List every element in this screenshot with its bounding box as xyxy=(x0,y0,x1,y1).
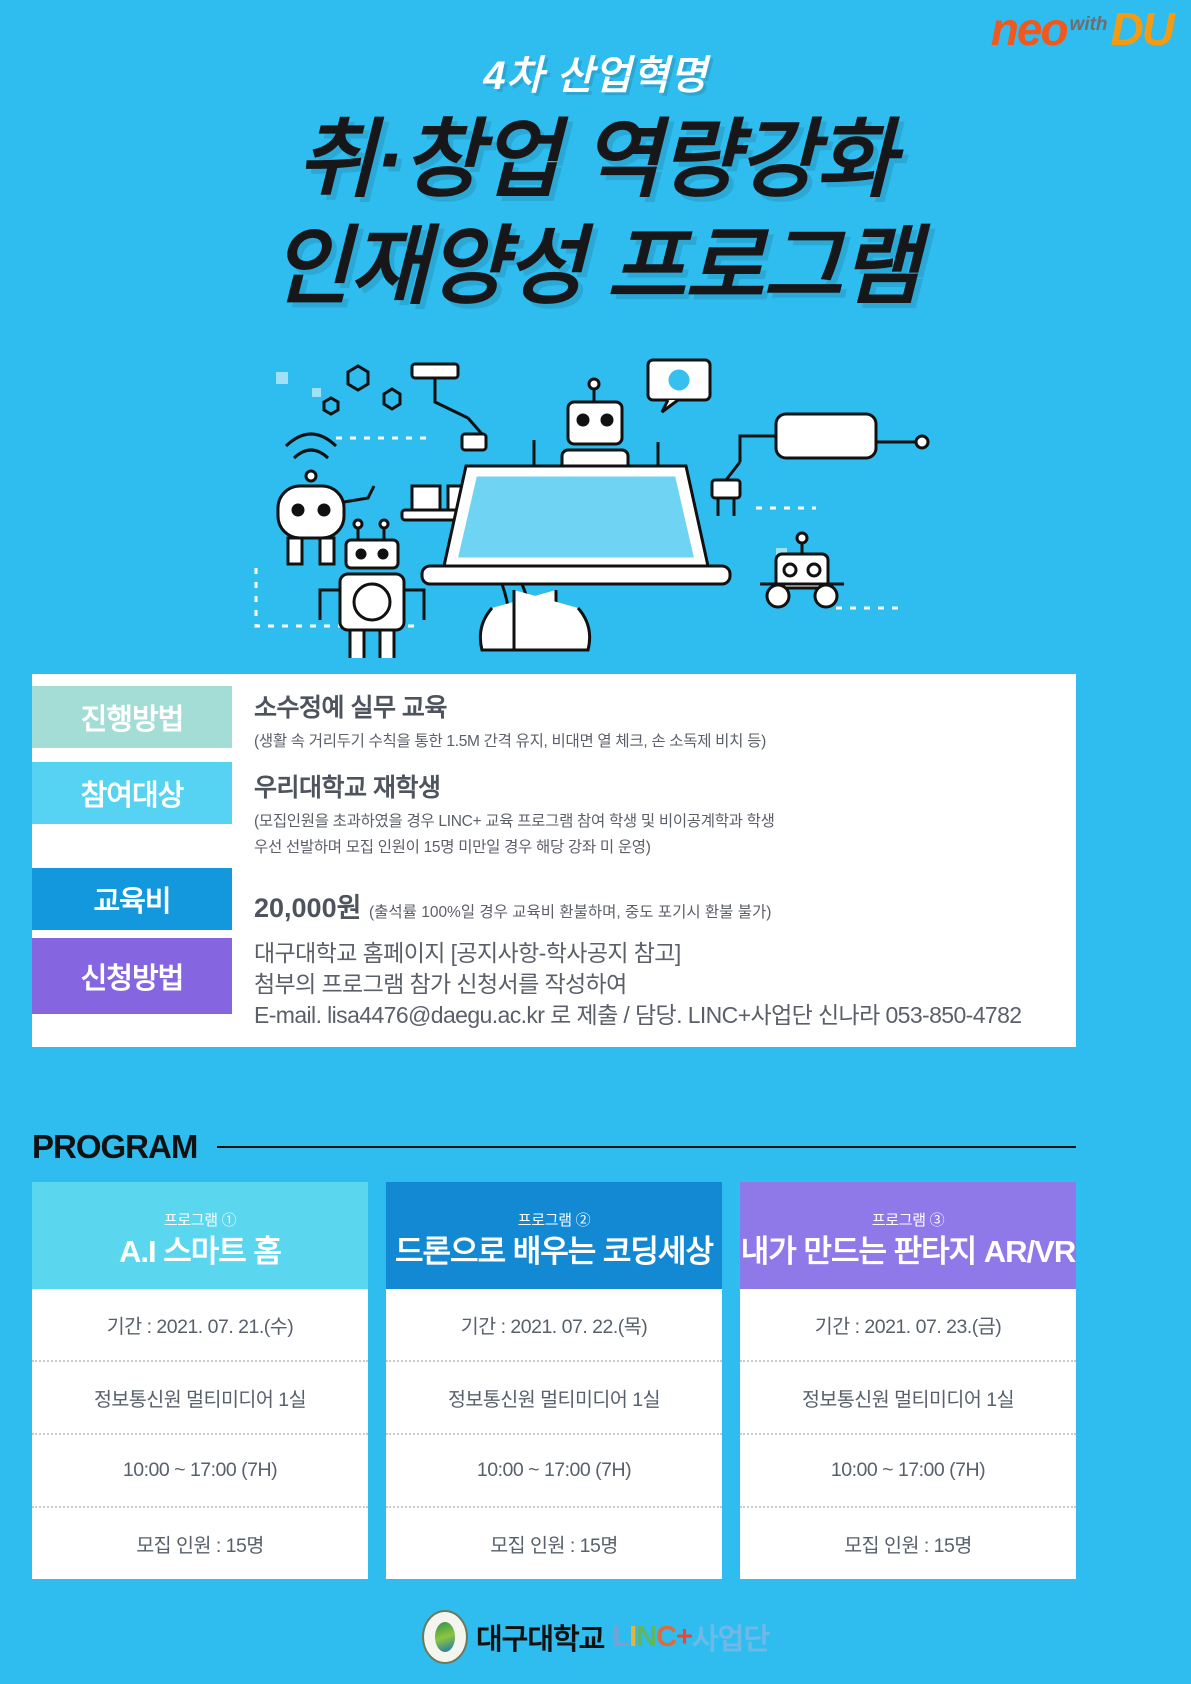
program-card-3-place: 정보통신원 멀티미디어 1실 xyxy=(740,1362,1076,1435)
linc-letter-plus: + xyxy=(676,1621,692,1654)
program-card-1-place: 정보통신원 멀티미디어 1실 xyxy=(32,1362,368,1435)
info-apply-line1: 대구대학교 홈페이지 [공지사항-학사공지 참고] xyxy=(254,938,1022,969)
info-cell-target: 우리대학교 재학생 (모집인원을 초과하였을 경우 LINC+ 교육 프로그램 … xyxy=(232,754,775,860)
program-card-3-header: 프로그램 ③ 내가 만드는 판타지 AR/VR xyxy=(740,1182,1076,1289)
info-row-fee: 교육비 20,000원 (출석률 100%일 경우 교육비 환불하며, 중도 포… xyxy=(32,860,1076,930)
linc-letter-i: I xyxy=(629,1621,636,1654)
program-card-2-capacity: 모집 인원 : 15명 xyxy=(386,1508,722,1579)
info-tag-method: 진행방법 xyxy=(32,686,232,748)
program-card-2-header: 프로그램 ② 드론으로 배우는 코딩세상 xyxy=(386,1182,722,1289)
info-cell-apply: 대구대학교 홈페이지 [공지사항-학사공지 참고] 첨부의 프로그램 참가 신청… xyxy=(232,930,1022,1031)
info-cell-method: 소수정예 실무 교육 (생활 속 거리두기 수칙을 통한 1.5M 간격 유지,… xyxy=(232,674,766,754)
program-card-2-tag: 프로그램 ② xyxy=(518,1209,591,1230)
program-card-1-time: 10:00 ~ 17:00 (7H) xyxy=(32,1435,368,1508)
headline-title-line1: 취·창업 역량강화 xyxy=(0,110,1191,211)
neo-with-du-logo: neo with DU xyxy=(991,8,1173,52)
program-section-header: PROGRAM xyxy=(32,1128,1076,1166)
program-card-3[interactable]: 프로그램 ③ 내가 만드는 판타지 AR/VR 기간 : 2021. 07. 2… xyxy=(740,1182,1076,1579)
robotics-illustration xyxy=(0,358,1191,668)
info-method-sub: (생활 속 거리두기 수칙을 통한 1.5M 간격 유지, 비대면 열 체크, … xyxy=(254,730,766,754)
info-row-target: 참여대상 우리대학교 재학생 (모집인원을 초과하였을 경우 LINC+ 교육 … xyxy=(32,754,1076,860)
program-heading-rule xyxy=(217,1146,1076,1148)
info-fee-amount: 20,000원 xyxy=(254,893,361,923)
logo-with-text: with xyxy=(1070,15,1108,34)
info-row-method: 진행방법 소수정예 실무 교육 (생활 속 거리두기 수칙을 통한 1.5M 간… xyxy=(32,674,1076,754)
linc-letter-n: N xyxy=(636,1621,656,1654)
poster-headline: 4차 산업혁명 취·창업 역량강화 인재양성 프로그램 xyxy=(0,56,1191,319)
info-fee-note: (출석률 100%일 경우 교육비 환불하며, 중도 포기시 환불 불가) xyxy=(369,904,771,921)
program-card-3-title: 내가 만드는 판타지 AR/VR xyxy=(741,1234,1075,1271)
linc-letter-c: C xyxy=(656,1621,676,1654)
info-method-main: 소수정예 실무 교육 xyxy=(254,688,766,724)
program-card-1-capacity: 모집 인원 : 15명 xyxy=(32,1508,368,1579)
program-card-3-capacity: 모집 인원 : 15명 xyxy=(740,1508,1076,1579)
headline-eyebrow: 4차 산업혁명 xyxy=(0,56,1191,96)
university-name: 대구대학교 xyxy=(476,1616,604,1658)
program-card-list: 프로그램 ① A.I 스마트 홈 기간 : 2021. 07. 21.(수) 정… xyxy=(32,1182,1076,1579)
program-card-1-period: 기간 : 2021. 07. 21.(수) xyxy=(32,1289,368,1362)
info-target-sub-line2: 우선 선발하며 모집 인원이 15명 미만일 경우 해당 강좌 미 운영) xyxy=(254,836,775,860)
program-card-1-header: 프로그램 ① A.I 스마트 홈 xyxy=(32,1182,368,1289)
info-tag-apply: 신청방법 xyxy=(32,938,232,1014)
university-seal-inner xyxy=(435,1622,455,1652)
info-target-sub-line1: (모집인원을 초과하였을 경우 LINC+ 교육 프로그램 참여 학생 및 비이… xyxy=(254,810,775,834)
program-card-1-tag: 프로그램 ① xyxy=(164,1209,237,1230)
program-card-3-time: 10:00 ~ 17:00 (7H) xyxy=(740,1435,1076,1508)
headline-title-line2: 인재양성 프로그램 xyxy=(0,217,1191,318)
info-apply-line3: E-mail. lisa4476@daegu.ac.kr 로 제출 / 담당. … xyxy=(254,1000,1022,1031)
program-card-2-place: 정보통신원 멀티미디어 1실 xyxy=(386,1362,722,1435)
linc-korean-suffix: 사업단 xyxy=(692,1616,769,1658)
program-card-3-period: 기간 : 2021. 07. 23.(금) xyxy=(740,1289,1076,1362)
program-card-1[interactable]: 프로그램 ① A.I 스마트 홈 기간 : 2021. 07. 21.(수) 정… xyxy=(32,1182,368,1579)
info-apply-line2: 첨부의 프로그램 참가 신청서를 작성하여 xyxy=(254,969,1022,1000)
info-tag-target: 참여대상 xyxy=(32,762,232,824)
footer-logos: 대구대학교 L I N C + 사업단 xyxy=(0,1610,1191,1664)
program-card-2-period: 기간 : 2021. 07. 22.(목) xyxy=(386,1289,722,1362)
info-fee-amount-wrap: 20,000원 (출석률 100%일 경우 교육비 환불하며, 중도 포기시 환… xyxy=(254,886,771,925)
program-card-2-time: 10:00 ~ 17:00 (7H) xyxy=(386,1435,722,1508)
program-heading-label: PROGRAM xyxy=(32,1128,197,1166)
logo-du-text: DU xyxy=(1111,8,1173,52)
info-target-main: 우리대학교 재학생 xyxy=(254,768,775,804)
linc-letter-l: L xyxy=(612,1621,629,1654)
info-panel: 진행방법 소수정예 실무 교육 (생활 속 거리두기 수칙을 통한 1.5M 간… xyxy=(32,674,1076,1047)
poster-root: neo with DU 4차 산업혁명 취·창업 역량강화 인재양성 프로그램 xyxy=(0,0,1191,1684)
program-card-3-tag: 프로그램 ③ xyxy=(872,1209,945,1230)
logo-neo-text: neo xyxy=(991,8,1067,52)
university-seal-icon xyxy=(422,1610,468,1664)
info-cell-fee: 20,000원 (출석률 100%일 경우 교육비 환불하며, 중도 포기시 환… xyxy=(232,860,771,925)
program-card-2[interactable]: 프로그램 ② 드론으로 배우는 코딩세상 기간 : 2021. 07. 22.(… xyxy=(386,1182,722,1579)
program-card-2-title: 드론으로 배우는 코딩세상 xyxy=(395,1234,713,1271)
info-tag-fee: 교육비 xyxy=(32,868,232,930)
linc-plus-logo: L I N C + 사업단 xyxy=(612,1616,769,1658)
program-card-1-title: A.I 스마트 홈 xyxy=(119,1234,281,1271)
info-row-apply: 신청방법 대구대학교 홈페이지 [공지사항-학사공지 참고] 첨부의 프로그램 … xyxy=(32,930,1076,1031)
